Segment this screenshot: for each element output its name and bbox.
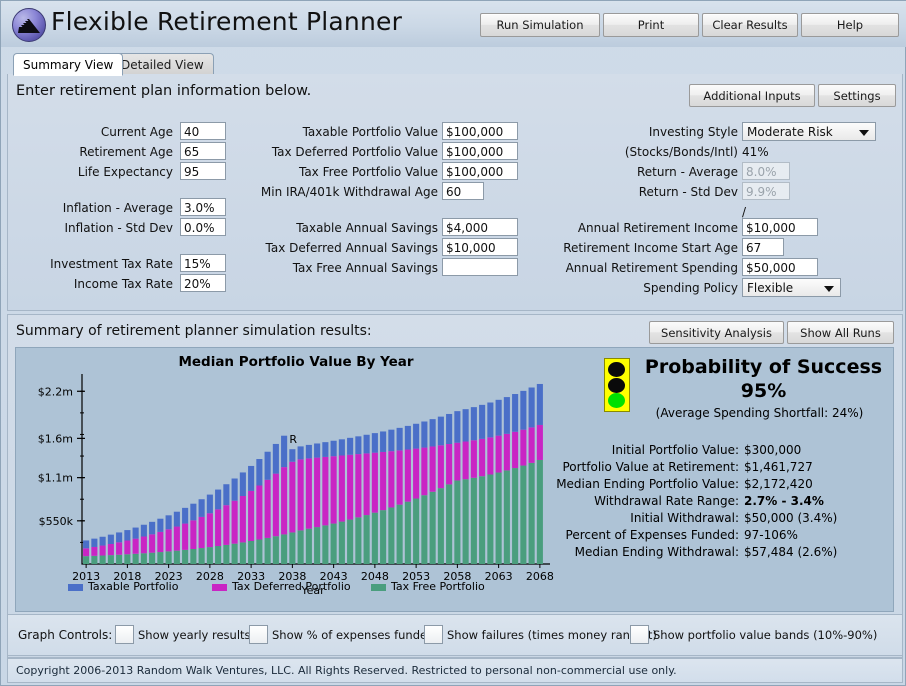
results-block: Probability of Success 95% (Average Spen… bbox=[616, 348, 893, 611]
table-row: Percent of Expenses Funded: 97-106% bbox=[616, 528, 893, 545]
label-taxable-annual-savings: Taxable Annual Savings bbox=[296, 218, 438, 238]
chevron-down-icon bbox=[859, 130, 869, 136]
print-button[interactable]: Print bbox=[603, 13, 699, 37]
label-tax-deferred-portfolio-value: Tax Deferred Portfolio Value bbox=[272, 142, 438, 162]
run-simulation-button[interactable]: Run Simulation bbox=[480, 13, 600, 37]
label-min-ira-withdrawal-age: Min IRA/401k Withdrawal Age bbox=[261, 182, 438, 202]
traffic-light-icon bbox=[604, 358, 630, 412]
svg-text:2068: 2068 bbox=[526, 570, 554, 583]
select-spending-policy[interactable]: Flexible bbox=[742, 278, 841, 297]
legend-label-tax-deferred: Tax Deferred Portfolio bbox=[232, 580, 351, 593]
checkbox-show-yearly-results[interactable] bbox=[115, 625, 134, 644]
pyramid-logo-icon bbox=[12, 8, 46, 42]
label-taxable-portfolio-value: Taxable Portfolio Value bbox=[303, 122, 438, 142]
result-value: $1,461,727 bbox=[744, 460, 813, 474]
tab-detailed-view[interactable]: Detailed View bbox=[111, 53, 214, 75]
label-investment-tax-rate: Investment Tax Rate bbox=[50, 254, 173, 274]
settings-button[interactable]: Settings bbox=[818, 84, 896, 107]
table-row: Median Ending Withdrawal: $57,484 (2.6%) bbox=[616, 545, 893, 562]
field-life-expectancy[interactable]: 95 bbox=[180, 162, 226, 180]
graph-controls: Graph Controls: Show yearly results Show… bbox=[7, 614, 903, 656]
label-retirement-age: Retirement Age bbox=[79, 142, 173, 162]
result-value: $57,484 (2.6%) bbox=[744, 545, 837, 559]
title-bar: Flexible Retirement Planner Run Simulati… bbox=[1, 1, 906, 47]
field-inflation-average[interactable]: 3.0% bbox=[180, 198, 226, 216]
result-label: Median Ending Portfolio Value: bbox=[556, 477, 739, 491]
legend-label-tax-free: Tax Free Portfolio bbox=[391, 580, 485, 593]
legend-swatch-tax-free bbox=[371, 584, 386, 591]
probability-of-success-title: Probability of Success bbox=[636, 356, 891, 378]
label-annual-retirement-income: Annual Retirement Income bbox=[578, 218, 738, 238]
label-show-percent-expenses-funded: Show % of expenses funded bbox=[272, 628, 434, 642]
page-title: Flexible Retirement Planner bbox=[51, 7, 402, 36]
svg-text:$550k: $550k bbox=[39, 515, 74, 528]
svg-text:2048: 2048 bbox=[361, 570, 389, 583]
app-window: Flexible Retirement Planner Run Simulati… bbox=[0, 0, 906, 686]
field-annual-retirement-spending[interactable]: $50,000 bbox=[742, 258, 818, 276]
help-button[interactable]: Help bbox=[801, 13, 899, 37]
table-row: Median Ending Portfolio Value: $2,172,42… bbox=[616, 477, 893, 494]
label-tax-deferred-annual-savings: Tax Deferred Annual Savings bbox=[266, 238, 438, 258]
label-tax-free-portfolio-value: Tax Free Portfolio Value bbox=[299, 162, 438, 182]
field-return-std-dev: 9.9% bbox=[742, 182, 790, 200]
copyright-text: Copyright 2006-2013 Random Walk Ventures… bbox=[16, 664, 677, 677]
label-tax-free-annual-savings: Tax Free Annual Savings bbox=[293, 258, 438, 278]
label-show-failures: Show failures (times money ran out) bbox=[447, 628, 657, 642]
average-spending-shortfall: (Average Spending Shortfall: 24%) bbox=[626, 406, 893, 420]
label-retirement-income-start-age: Retirement Income Start Age bbox=[563, 238, 738, 258]
field-tax-free-portfolio-value[interactable]: $100,000 bbox=[442, 162, 518, 180]
svg-text:2063: 2063 bbox=[485, 570, 513, 583]
field-taxable-portfolio-value[interactable]: $100,000 bbox=[442, 122, 518, 140]
field-current-age[interactable]: 40 bbox=[180, 122, 226, 140]
result-label: Initial Portfolio Value: bbox=[612, 443, 739, 457]
legend-label-taxable: Taxable Portfolio bbox=[88, 580, 178, 593]
result-value: $2,172,420 bbox=[744, 477, 813, 491]
result-label: Initial Withdrawal: bbox=[630, 511, 739, 525]
field-income-tax-rate[interactable]: 20% bbox=[180, 274, 226, 292]
svg-text:2028: 2028 bbox=[196, 570, 224, 583]
field-retirement-age[interactable]: 65 bbox=[180, 142, 226, 160]
field-inflation-std-dev[interactable]: 0.0% bbox=[180, 218, 226, 236]
spending-policy-value: Flexible bbox=[747, 279, 793, 297]
input-panel: Enter retirement plan information below.… bbox=[7, 74, 903, 311]
graph-controls-label: Graph Controls: bbox=[18, 628, 112, 642]
field-investment-tax-rate[interactable]: 15% bbox=[180, 254, 226, 272]
tab-summary-view[interactable]: Summary View bbox=[13, 53, 123, 76]
chevron-down-icon bbox=[824, 286, 834, 292]
clear-results-button[interactable]: Clear Results bbox=[702, 13, 798, 37]
svg-text:$1.1m: $1.1m bbox=[38, 472, 73, 485]
chart-area: Median Portfolio Value By Year $550k$1.1… bbox=[15, 347, 894, 612]
label-life-expectancy: Life Expectancy bbox=[78, 162, 173, 182]
sensitivity-analysis-button[interactable]: Sensitivity Analysis bbox=[649, 321, 784, 344]
allocation-value: 41% / 45% / 14% bbox=[742, 142, 769, 162]
summary-panel: Summary of retirement planner simulation… bbox=[7, 314, 903, 658]
retirement-marker-label: R bbox=[289, 433, 297, 446]
result-value: 97-106% bbox=[744, 528, 798, 542]
probability-of-success-value: 95% bbox=[636, 380, 891, 402]
field-tax-deferred-annual-savings[interactable]: $10,000 bbox=[442, 238, 518, 256]
result-label: Withdrawal Rate Range: bbox=[594, 494, 739, 508]
field-return-average: 8.0% bbox=[742, 162, 790, 180]
tab-strip: Summary View Detailed View bbox=[7, 53, 901, 76]
table-row: Initial Withdrawal: $50,000 (3.4%) bbox=[616, 511, 893, 528]
show-all-runs-button[interactable]: Show All Runs bbox=[787, 321, 894, 344]
label-inflation-std-dev: Inflation - Std Dev bbox=[65, 218, 173, 238]
checkbox-show-percent-expenses-funded[interactable] bbox=[249, 625, 268, 644]
result-label: Median Ending Withdrawal: bbox=[575, 545, 739, 559]
footer-bar: Copyright 2006-2013 Random Walk Ventures… bbox=[7, 658, 903, 683]
field-taxable-annual-savings[interactable]: $4,000 bbox=[442, 218, 518, 236]
result-row: Initial Portfolio Value: $300,000 bbox=[616, 443, 893, 460]
result-value: $300,000 bbox=[744, 443, 801, 457]
label-return-average: Return - Average bbox=[637, 162, 738, 182]
select-investing-style[interactable]: Moderate Risk bbox=[742, 122, 876, 141]
label-current-age: Current Age bbox=[101, 122, 173, 142]
label-spending-policy: Spending Policy bbox=[643, 278, 738, 298]
field-tax-deferred-portfolio-value[interactable]: $100,000 bbox=[442, 142, 518, 160]
field-tax-free-annual-savings[interactable] bbox=[442, 258, 518, 276]
table-row: Withdrawal Rate Range: 2.7% - 3.4% bbox=[616, 494, 893, 511]
label-annual-retirement-spending: Annual Retirement Spending bbox=[566, 258, 738, 278]
label-allocation: (Stocks/Bonds/Intl) bbox=[625, 142, 738, 162]
additional-inputs-button[interactable]: Additional Inputs bbox=[689, 84, 815, 107]
checkbox-show-portfolio-value-bands[interactable] bbox=[630, 625, 649, 644]
investing-style-value: Moderate Risk bbox=[747, 123, 833, 141]
legend-swatch-tax-deferred bbox=[212, 584, 227, 591]
svg-text:$1.6m: $1.6m bbox=[38, 432, 73, 445]
result-value: 2.7% - 3.4% bbox=[744, 494, 824, 508]
field-annual-retirement-income[interactable]: $10,000 bbox=[742, 218, 818, 236]
result-label: Percent of Expenses Funded: bbox=[566, 528, 739, 542]
label-income-tax-rate: Income Tax Rate bbox=[74, 274, 173, 294]
checkbox-show-failures[interactable] bbox=[424, 625, 443, 644]
chart-svg: $550k$1.1m$1.6m$2.2m20132018202320282033… bbox=[16, 366, 576, 611]
input-panel-heading: Enter retirement plan information below. bbox=[16, 83, 311, 99]
field-min-ira-withdrawal-age[interactable]: 60 bbox=[442, 182, 484, 200]
summary-heading: Summary of retirement planner simulation… bbox=[16, 323, 372, 339]
label-show-portfolio-value-bands: Show portfolio value bands (10%-90%) bbox=[653, 628, 877, 642]
result-label: Portfolio Value at Retirement: bbox=[562, 460, 739, 474]
legend-swatch-taxable bbox=[68, 584, 83, 591]
field-retirement-income-start-age[interactable]: 67 bbox=[742, 238, 784, 256]
result-value: $50,000 (3.4%) bbox=[744, 511, 837, 525]
label-investing-style: Investing Style bbox=[649, 122, 738, 142]
label-show-yearly-results: Show yearly results bbox=[138, 628, 251, 642]
table-row: Portfolio Value at Retirement: $1,461,72… bbox=[616, 460, 893, 477]
label-return-std-dev: Return - Std Dev bbox=[639, 182, 738, 202]
svg-text:$2.2m: $2.2m bbox=[38, 385, 73, 398]
label-inflation-average: Inflation - Average bbox=[63, 198, 173, 218]
